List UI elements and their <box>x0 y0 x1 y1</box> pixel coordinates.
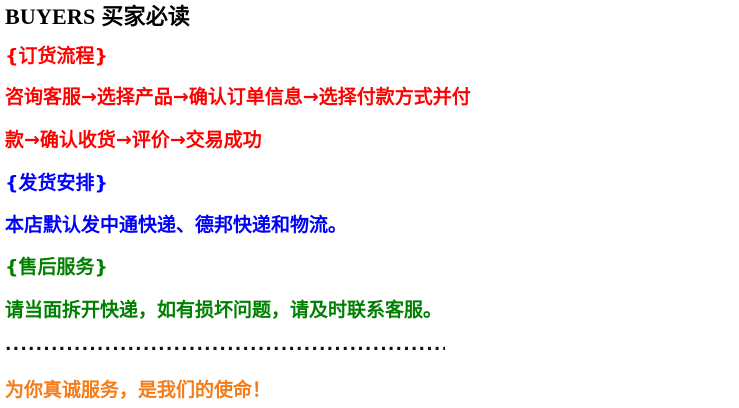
order-process-step-line-2: 款→确认收货→评价→交易成功 <box>5 131 262 150</box>
shipping-arrangement-text: 本店默认发中通快递、德邦快递和物流。 <box>5 216 347 235</box>
section-heading-after-sales-service: {售后服务} <box>5 258 108 277</box>
section-heading-shipping-arrangement: {发货安排} <box>5 174 108 193</box>
closing-slogan: 为你真诚服务，是我们的使命！ <box>5 381 271 400</box>
page-title: BUYERS买家必读 <box>5 6 190 28</box>
page-title-latin: BUYERS <box>5 4 95 29</box>
section-heading-order-process: {订货流程} <box>5 47 108 66</box>
buyers-notice-page: BUYERS买家必读 {订货流程} 咨询客服→选择产品→确认订单信息→选择付款方… <box>0 0 739 408</box>
after-sales-service-text: 请当面拆开快递，如有损坏问题，请及时联系客服。 <box>5 301 442 320</box>
page-title-cjk: 买家必读 <box>101 4 190 30</box>
order-process-step-line-1: 咨询客服→选择产品→确认订单信息→选择付款方式并付 <box>5 88 471 107</box>
dotted-divider: ........................................… <box>5 336 445 354</box>
